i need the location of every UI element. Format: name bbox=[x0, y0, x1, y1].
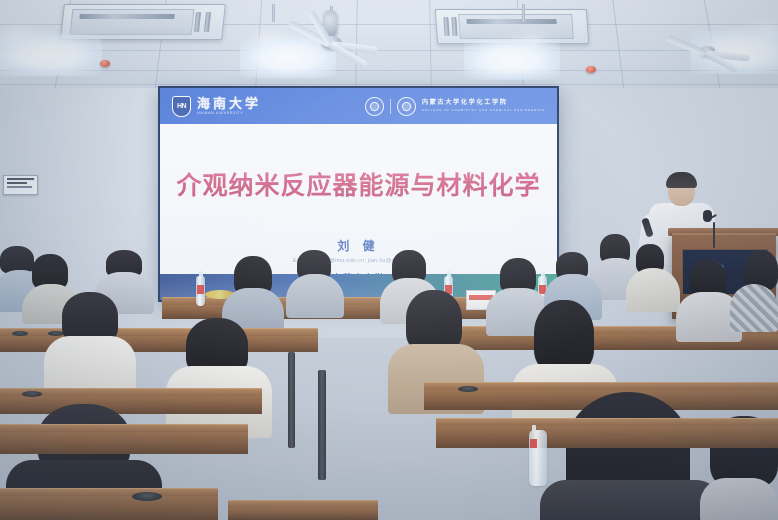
logo-divider bbox=[390, 99, 391, 114]
desk-grommet bbox=[22, 391, 42, 397]
desk-leg bbox=[318, 370, 326, 480]
desk-row-4b bbox=[436, 418, 778, 448]
college-name-en: COLLEGE OF CHEMISTRY AND CHEMICAL ENGINE… bbox=[422, 109, 545, 112]
slide-header-band: HN 海南大学 HAINAN UNIVERSITY 内蒙古大学化学化工学院 CO… bbox=[160, 88, 557, 124]
desk-grommet bbox=[12, 331, 28, 336]
ceiling bbox=[0, 0, 778, 92]
wall-notice-plate bbox=[3, 175, 38, 195]
microphone-head-icon bbox=[703, 210, 712, 222]
fan-rod-left bbox=[272, 4, 275, 22]
desk-row-5b bbox=[228, 500, 378, 520]
gooseneck-mic-stand bbox=[713, 222, 715, 248]
desk-leg bbox=[288, 352, 295, 448]
seal-left-icon bbox=[365, 97, 384, 116]
smoke-detector-left bbox=[100, 60, 110, 67]
slide-body: 介观纳米反应器能源与材料化学 刘 健 Email: liu.jian@imu.e… bbox=[160, 124, 557, 300]
desk-grommet bbox=[132, 492, 162, 501]
desk-row-4 bbox=[0, 424, 248, 454]
slide-header-right-logos: 内蒙古大学化学化工学院 COLLEGE OF CHEMISTRY AND CHE… bbox=[365, 97, 545, 116]
hainan-university-name-cn: 海南大学 bbox=[197, 97, 261, 110]
water-bottle bbox=[529, 430, 547, 486]
desk-grommet bbox=[458, 386, 478, 392]
hainan-university-shield-icon: HN bbox=[172, 96, 191, 117]
presenter-hair bbox=[666, 172, 697, 188]
college-wordmark: 内蒙古大学化学化工学院 COLLEGE OF CHEMISTRY AND CHE… bbox=[422, 100, 545, 111]
projection-screen: HN 海南大学 HAINAN UNIVERSITY 内蒙古大学化学化工学院 CO… bbox=[158, 86, 559, 302]
smoke-detector-right bbox=[586, 66, 596, 73]
seal-right-icon bbox=[397, 97, 416, 116]
slide-speaker-email: Email: liu.jian@imu.edu.cn; jian.liu@sur… bbox=[160, 258, 557, 264]
lecture-hall-photo: HN 海南大学 HAINAN UNIVERSITY 内蒙古大学化学化工学院 CO… bbox=[0, 0, 778, 520]
desk-row-5 bbox=[0, 488, 218, 520]
fan-rod-right bbox=[522, 4, 525, 22]
college-name-cn: 内蒙古大学化学化工学院 bbox=[422, 100, 545, 106]
water-bottle bbox=[196, 276, 205, 306]
hainan-university-name-en: HAINAN UNIVERSITY bbox=[197, 112, 261, 116]
hainan-university-wordmark: 海南大学 HAINAN UNIVERSITY bbox=[197, 97, 261, 116]
slide-title: 介观纳米反应器能源与材料化学 bbox=[160, 166, 557, 202]
slide-speaker-name: 刘 健 bbox=[160, 237, 557, 254]
slide-surface: HN 海南大学 HAINAN UNIVERSITY 内蒙古大学化学化工学院 CO… bbox=[160, 88, 557, 300]
air-conditioner-unit-right bbox=[435, 9, 589, 44]
